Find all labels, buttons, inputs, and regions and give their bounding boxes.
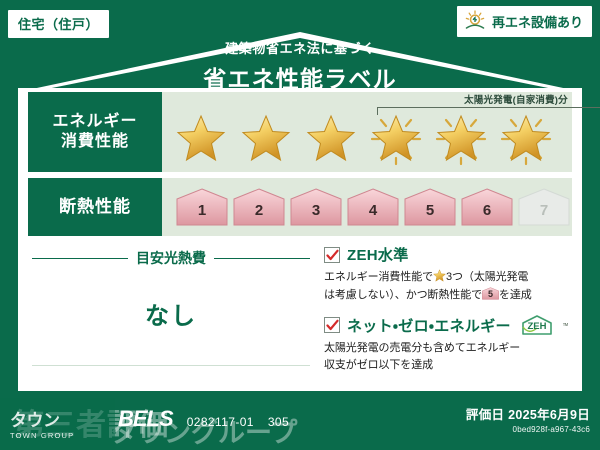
- certification-net-zero-energy: ネット・ゼロ・エネルギー ZEH тм 太陽光発電の売電分も含めてエネルギー: [324, 314, 572, 374]
- insulation-level-value: 6: [461, 188, 513, 226]
- insulation-level-value: 2: [233, 188, 285, 226]
- star-5-solar: [430, 108, 492, 168]
- evaluation-date-label: 評価日: [466, 408, 504, 422]
- insulation-performance-row: 断熱性能 1 2: [28, 178, 572, 236]
- building-type-tag: 住宅（住戸）: [8, 10, 109, 38]
- net-zero-description: 太陽光発電の売電分も含めてエネルギー 収支がゼロ以下を達成: [324, 340, 572, 374]
- star-2: [235, 108, 297, 168]
- star-icon: [371, 114, 421, 162]
- registration-number: 0282117-01: [187, 415, 254, 429]
- net-zero-desc-line1: 太陽光発電の売電分も含めてエネルギー: [324, 342, 520, 354]
- evaluation-date-value: 2025年6月9日: [508, 408, 590, 422]
- star-icon: [241, 114, 291, 162]
- bels-registration: BELS 0282117-01 305: [118, 406, 289, 432]
- insulation-level-3: 3: [290, 188, 342, 226]
- insulation-level-scale: 1 2 3 4 5: [176, 188, 570, 226]
- star-3: [300, 108, 362, 168]
- evaluation-date: 評価日 2025年6月9日: [466, 404, 590, 423]
- energy-star-rating: [170, 108, 557, 168]
- insulation-level-value: 4: [347, 188, 399, 226]
- insulation-level-2: 2: [233, 188, 285, 226]
- bels-logo: BELS: [118, 406, 173, 432]
- rule-left: [32, 258, 128, 259]
- energy-label-line2: 消費性能: [61, 132, 129, 152]
- star-4-solar: [365, 108, 427, 168]
- certification-block: ZEH水準 エネルギー消費性能で3つ（太陽光発電 は考慮しない）、かつ断熱性能で…: [324, 244, 572, 384]
- zeh-standard-head: ZEH水準: [324, 244, 572, 265]
- lower-section: 目安光熱費 なし ZEH水準: [28, 244, 572, 384]
- insulation-level-7: 7: [518, 188, 570, 226]
- insulation-levels-area: 1 2 3 4 5: [162, 178, 572, 236]
- insulation-level-value: 5: [404, 188, 456, 226]
- star-1: [170, 108, 232, 168]
- energy-category-label: エネルギー 消費性能: [28, 92, 162, 172]
- insulation-level-value: 1: [176, 188, 228, 226]
- net-zero-title: ネット・ゼロ・エネルギー: [347, 315, 511, 336]
- zeh-desc-star: 3つ（太陽光発電: [446, 271, 528, 283]
- label-title-block: 建築物省エネ法に基づく 省エネ性能ラベル: [0, 38, 600, 94]
- energy-performance-row: エネルギー 消費性能 太陽光発電(自家消費)分: [28, 92, 572, 172]
- star-icon: [176, 114, 226, 162]
- star-6-solar: [495, 108, 557, 168]
- label-content-panel: エネルギー 消費性能 太陽光発電(自家消費)分: [28, 92, 572, 384]
- inline-insulation-chip: 5: [482, 286, 499, 301]
- checkbox-zeh-standard[interactable]: [324, 247, 340, 263]
- energy-stars-area: 太陽光発電(自家消費)分: [162, 92, 572, 172]
- zeh-standard-description: エネルギー消費性能で3つ（太陽光発電 は考慮しない）、かつ断熱性能で5を達成: [324, 269, 572, 304]
- sun-icon: [463, 10, 487, 32]
- zeh-desc-part3: を達成: [499, 289, 532, 301]
- insulation-level-6: 6: [461, 188, 513, 226]
- svg-text:ZEH: ZEH: [527, 321, 546, 332]
- rule-right: [214, 258, 310, 259]
- evaluation-info: 評価日 2025年6月9日 0bed928f-a967-43c6: [466, 404, 590, 434]
- renewable-equipment-badge: 再エネ設備あり: [457, 6, 592, 37]
- check-icon: [326, 319, 339, 332]
- utility-cost-heading: 目安光熱費: [28, 244, 314, 268]
- utility-cost-divider: [32, 365, 310, 366]
- zeh-desc-part2: は考慮しない）、かつ断熱性能で: [324, 289, 482, 301]
- zeh-trademark: тм: [563, 322, 568, 328]
- solar-annotation-label: 太陽光発電(自家消費)分: [371, 92, 600, 106]
- check-icon: [326, 249, 339, 262]
- star-icon: [306, 114, 356, 162]
- title-main: 省エネ性能ラベル: [0, 60, 600, 94]
- insulation-level-value: 7: [518, 188, 570, 226]
- star-icon: [501, 114, 551, 162]
- utility-cost-heading-label: 目安光熱費: [136, 248, 206, 268]
- title-subtitle: 建築物省エネ法に基づく: [0, 38, 600, 57]
- insulation-category-label: 断熱性能: [28, 178, 162, 236]
- insulation-level-value: 3: [290, 188, 342, 226]
- net-zero-desc-line2: 収支がゼロ以下を達成: [324, 359, 433, 371]
- unit-number: 305: [268, 415, 289, 429]
- certification-zeh-standard: ZEH水準 エネルギー消費性能で3つ（太陽光発電 は考慮しない）、かつ断熱性能で…: [324, 244, 572, 304]
- zeh-standard-title: ZEH水準: [347, 244, 409, 265]
- star-icon: [433, 269, 446, 282]
- insulation-level-5: 5: [404, 188, 456, 226]
- energy-label-line1: エネルギー: [52, 112, 137, 132]
- utility-cost-value: なし: [28, 296, 314, 331]
- zeh-house-logo-icon: ZEH: [518, 314, 556, 336]
- utility-cost-block: 目安光熱費 なし: [28, 244, 314, 384]
- energy-performance-label: 住宅（住戸） 再エネ設備あり 建築物省エネ法に基づく 省エネ性能ラベル: [0, 0, 600, 450]
- renewable-badge-label: 再エネ設備あり: [492, 12, 583, 31]
- inline-chip-value: 5: [482, 286, 499, 301]
- star-icon: [436, 114, 486, 162]
- net-zero-head: ネット・ゼロ・エネルギー ZEH тм: [324, 314, 572, 336]
- insulation-level-4: 4: [347, 188, 399, 226]
- label-uuid: 0bed928f-a967-43c6: [466, 425, 590, 434]
- zeh-desc-part1: エネルギー消費性能で: [324, 271, 433, 283]
- checkbox-net-zero-energy[interactable]: [324, 317, 340, 333]
- insulation-level-1: 1: [176, 188, 228, 226]
- label-footer: BELS 0282117-01 305 評価日 2025年6月9日 0bed92…: [0, 392, 600, 450]
